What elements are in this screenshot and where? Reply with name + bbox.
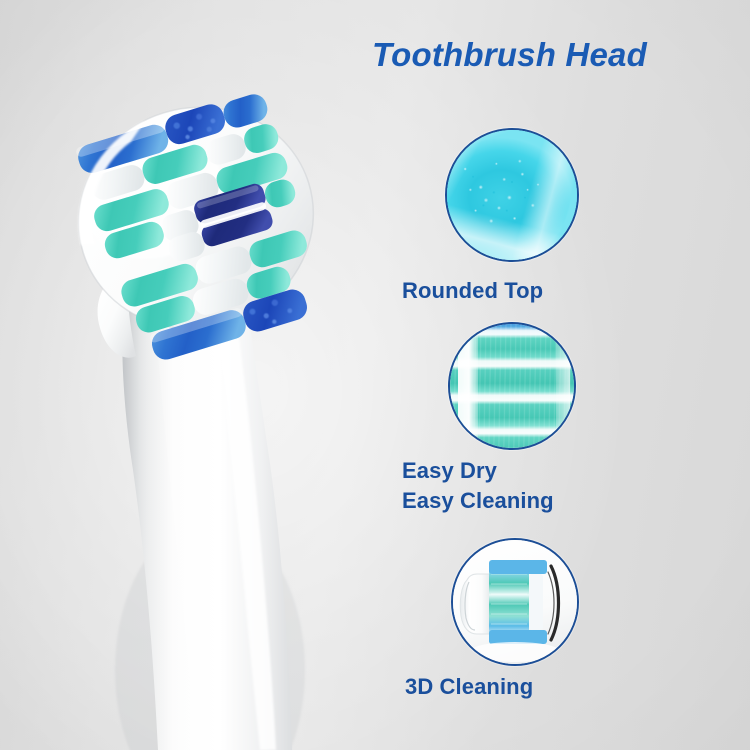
product-infographic: Toothbrush Head [0, 0, 750, 750]
bristle-tip-macro-icon [445, 128, 579, 262]
bristle-bands-icon [448, 322, 576, 450]
page-title: Toothbrush Head [372, 36, 740, 74]
toothbrush-product-image [0, 70, 400, 750]
brush-head-profile-icon [451, 538, 579, 666]
feature-label-rounded-top: Rounded Top [402, 276, 622, 306]
feature-label-easy-dry-line2: Easy Cleaning [402, 486, 622, 516]
feature-3d-cleaning [405, 538, 625, 666]
feature-label-3d-cleaning: 3D Cleaning [405, 672, 625, 702]
feature-label-easy-dry-group: Easy Dry Easy Cleaning [402, 456, 622, 516]
feature-label-easy-dry-line1: Easy Dry [402, 456, 622, 486]
feature-rounded-top [402, 128, 622, 262]
feature-easy-dry [402, 322, 622, 450]
